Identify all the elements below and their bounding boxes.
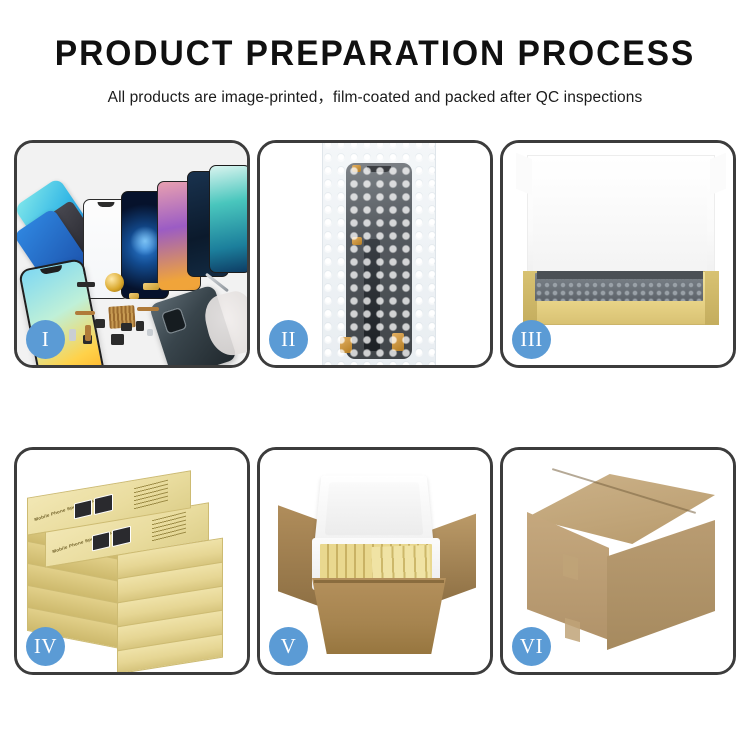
speaker-part-icon <box>105 273 124 292</box>
foam-sheet-icon <box>533 183 707 275</box>
antenna-strip-icon <box>77 282 95 287</box>
gold-connector-icon <box>143 283 159 290</box>
foam-lid-icon <box>314 475 433 544</box>
box-window-icon <box>92 531 110 551</box>
step-badge-4: IV <box>26 627 65 666</box>
step-badge-3: III <box>512 320 551 359</box>
ic-chip-icon <box>95 319 105 328</box>
page-title: PRODUCT PREPARATION PROCESS <box>15 36 735 73</box>
process-step-card-3[interactable]: III <box>500 140 736 368</box>
carton-edge-line <box>314 580 444 583</box>
teal-screen-icon <box>209 165 247 273</box>
camera-module-icon <box>136 321 144 331</box>
flex-cable-icon <box>85 325 91 341</box>
gold-connector-icon <box>129 293 139 299</box>
process-step-card-2[interactable]: II <box>257 140 493 368</box>
bubble-highlight-overlay <box>322 143 434 365</box>
process-step-grid: I II III <box>14 140 736 675</box>
box-window-icon <box>74 499 92 519</box>
header: PRODUCT PREPARATION PROCESS All products… <box>0 0 750 107</box>
process-step-card-6[interactable]: VI <box>500 447 736 675</box>
box-window-icon <box>112 526 131 548</box>
vibrator-motor-icon <box>111 334 124 345</box>
page-subtitle: All products are image-printed，film-coat… <box>0 85 750 107</box>
box-inner-shadow <box>537 271 703 279</box>
process-step-card-5[interactable]: V <box>257 447 493 675</box>
box-spec-lines <box>152 512 186 543</box>
carton-tape-patch-icon <box>563 554 578 580</box>
step-badge-1: I <box>26 320 65 359</box>
ic-chip-icon <box>121 323 132 331</box>
carton-body-icon <box>312 578 446 654</box>
carton-tape-patch-icon <box>565 618 580 642</box>
step-badge-5: V <box>269 627 308 666</box>
box-spec-lines <box>134 480 168 511</box>
product-preparation-infographic: PRODUCT PREPARATION PROCESS All products… <box>0 0 750 750</box>
step-badge-2: II <box>269 320 308 359</box>
box-window-icon <box>94 494 113 516</box>
flex-cable-icon <box>75 311 95 315</box>
process-step-card-4[interactable]: Mobile Phone Spare Parts Mobile Phone Sp… <box>14 447 250 675</box>
step-badge-6: VI <box>512 627 551 666</box>
process-step-card-1[interactable]: I <box>14 140 250 368</box>
sim-tray-icon <box>69 329 76 341</box>
screw-icon <box>147 329 153 336</box>
flex-cable-icon <box>137 307 159 311</box>
